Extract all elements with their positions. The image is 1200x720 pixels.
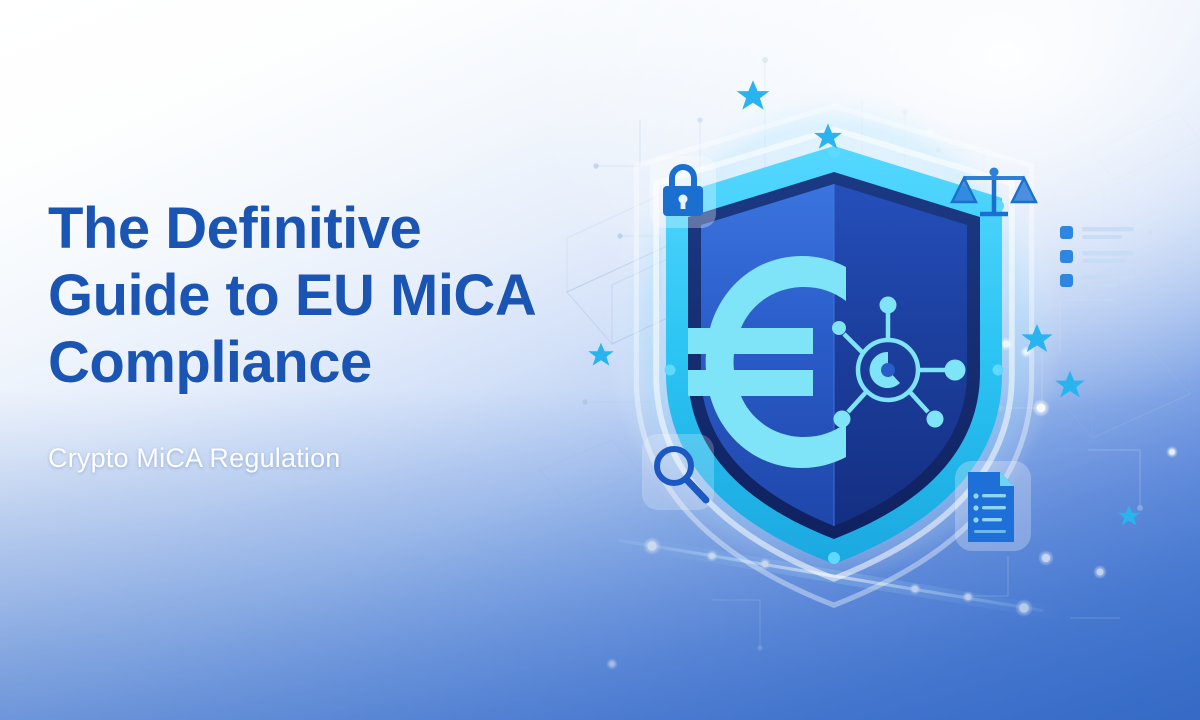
headline-line-1: The Definitive [48, 196, 568, 263]
headline-line-3: Compliance [48, 330, 568, 397]
text-block: The Definitive Guide to EU MiCA Complian… [48, 196, 568, 474]
checklist-icon [1060, 226, 1134, 287]
page-title: The Definitive Guide to EU MiCA Complian… [48, 196, 568, 397]
hero-illustration [556, 40, 1200, 680]
search-icon [642, 434, 714, 510]
star-icon [1118, 505, 1140, 525]
mica-compliance-banner: The Definitive Guide to EU MiCA Complian… [0, 0, 1200, 720]
document-icon [955, 461, 1031, 551]
page-subtitle: Crypto MiCA Regulation [48, 443, 568, 474]
padlock-icon [650, 156, 716, 228]
headline-line-2: Guide to EU MiCA [48, 263, 568, 330]
